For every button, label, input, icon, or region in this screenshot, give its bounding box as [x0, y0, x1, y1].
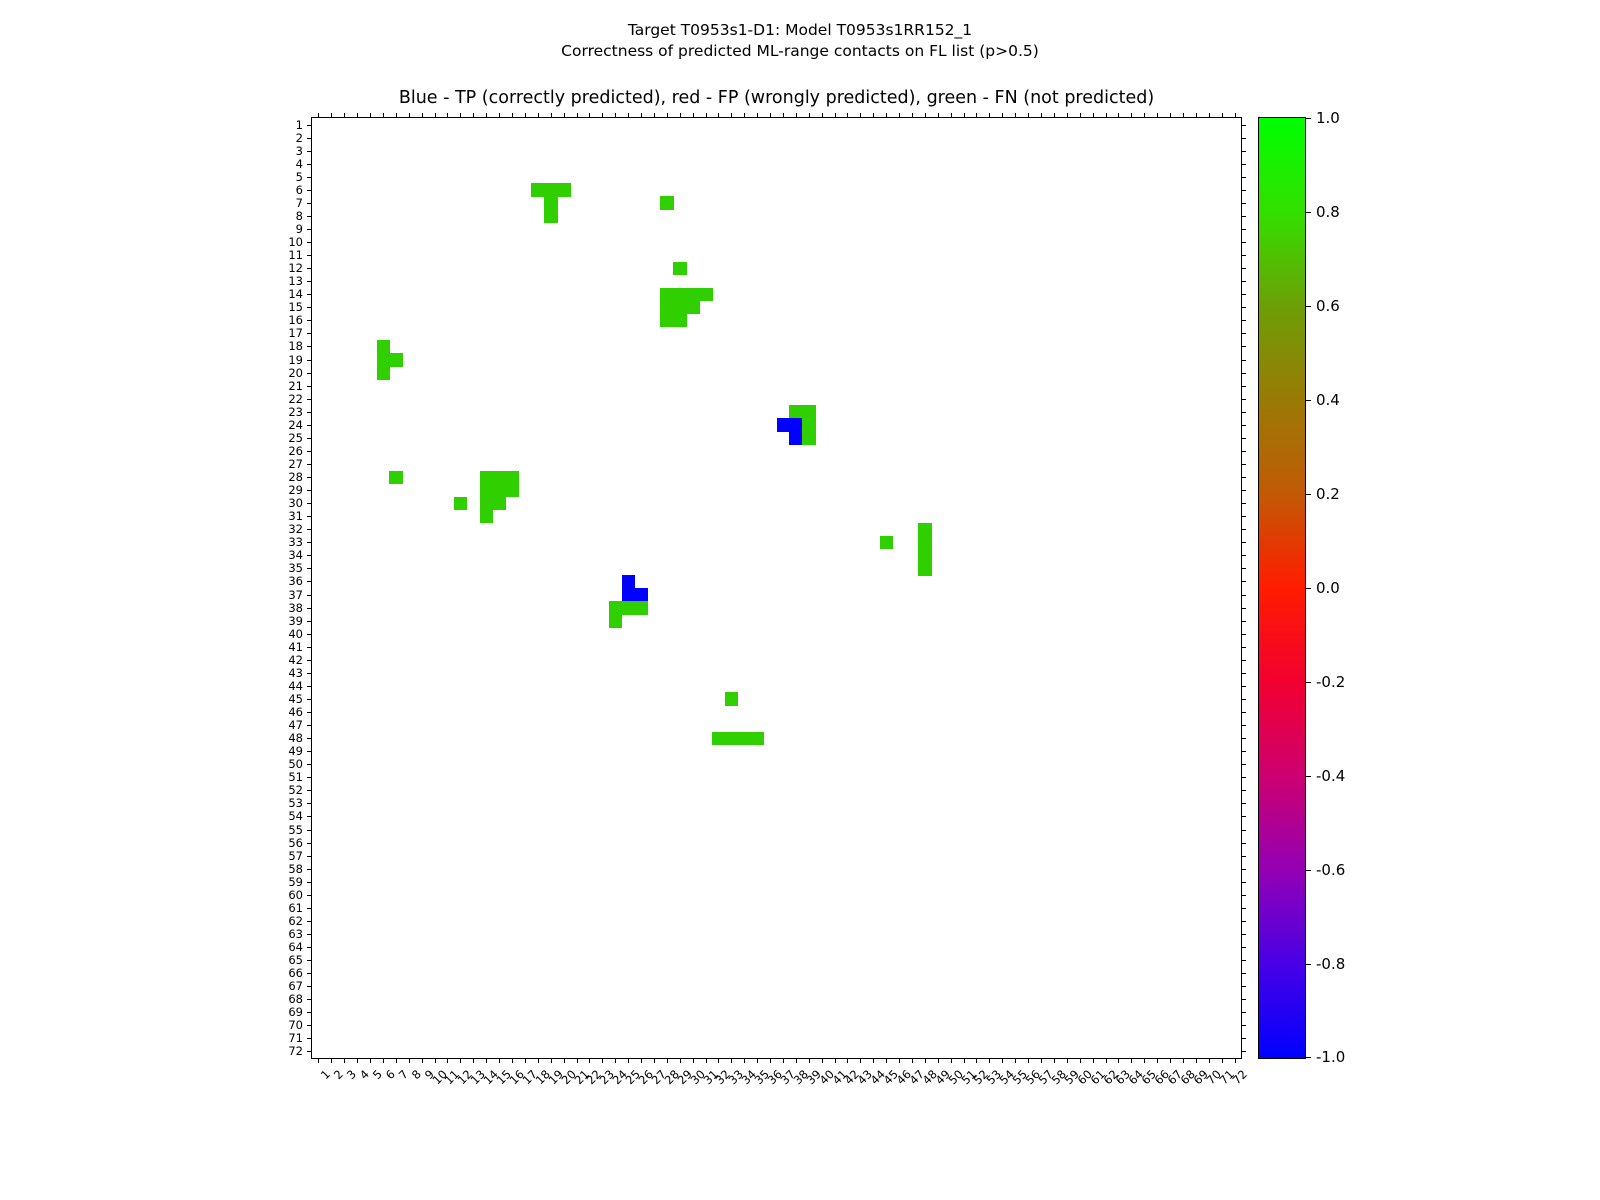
x-tick-mark [1067, 1058, 1068, 1063]
contact-cell [557, 183, 571, 197]
y-tick-mark-right [1241, 895, 1246, 896]
y-tick-mark [307, 216, 312, 217]
x-axis-tick-label: 3 [344, 1067, 359, 1082]
y-axis-tick-label: 11 [288, 248, 303, 262]
y-axis-tick-label: 47 [288, 718, 303, 732]
y-tick-mark-right [1241, 281, 1246, 282]
y-tick-mark-right [1241, 438, 1246, 439]
y-tick-mark [307, 843, 312, 844]
y-tick-mark-right [1241, 764, 1246, 765]
x-tick-mark-top [899, 113, 900, 118]
x-tick-mark-top [641, 113, 642, 118]
x-axis-tick-label: 1 [318, 1067, 333, 1082]
y-tick-mark [307, 399, 312, 400]
y-tick-mark-right [1241, 608, 1246, 609]
y-tick-mark-right [1241, 999, 1246, 1000]
y-tick-mark [307, 634, 312, 635]
y-tick-mark-right [1241, 555, 1246, 556]
x-tick-mark-top [1106, 113, 1107, 118]
y-tick-mark [307, 333, 312, 334]
contact-cell [544, 196, 558, 210]
x-tick-mark [370, 1058, 371, 1063]
y-tick-mark-right [1241, 660, 1246, 661]
y-axis-tick-label: 25 [288, 431, 303, 445]
y-axis-tick-label: 21 [288, 379, 303, 393]
y-tick-mark [307, 882, 312, 883]
x-tick-mark [989, 1058, 990, 1063]
contact-cell [635, 588, 649, 602]
contact-cell [802, 431, 816, 445]
x-tick-mark [499, 1058, 500, 1063]
x-tick-mark [551, 1058, 552, 1063]
x-tick-mark [899, 1058, 900, 1063]
y-axis-tick-label: 3 [296, 144, 303, 158]
y-axis-tick-label: 40 [288, 627, 303, 641]
y-axis-tick-label: 28 [288, 470, 303, 484]
x-tick-mark-top [1067, 113, 1068, 118]
y-tick-mark [307, 294, 312, 295]
x-tick-mark-top [822, 113, 823, 118]
x-tick-mark-top [1131, 113, 1132, 118]
y-axis-tick-label: 8 [296, 209, 303, 223]
x-tick-mark [1002, 1058, 1003, 1063]
x-tick-mark [641, 1058, 642, 1063]
y-tick-mark [307, 425, 312, 426]
y-tick-mark-right [1241, 1051, 1246, 1052]
contact-cell [480, 471, 494, 485]
y-tick-mark [307, 464, 312, 465]
contact-cell [880, 536, 894, 550]
y-tick-mark [307, 320, 312, 321]
y-axis-tick-label: 66 [288, 966, 303, 980]
y-axis-tick-label: 32 [288, 522, 303, 536]
x-tick-mark [654, 1058, 655, 1063]
x-tick-mark [1196, 1058, 1197, 1063]
x-tick-mark [951, 1058, 952, 1063]
y-axis-tick-label: 50 [288, 757, 303, 771]
y-tick-mark-right [1241, 960, 1246, 961]
colorbar-tick-mark [1305, 870, 1311, 871]
x-tick-mark-top [525, 113, 526, 118]
y-tick-mark [307, 164, 312, 165]
y-tick-mark [307, 451, 312, 452]
y-axis-tick-label: 26 [288, 444, 303, 458]
y-axis-tick-label: 24 [288, 418, 303, 432]
y-tick-mark [307, 934, 312, 935]
x-tick-mark [1235, 1058, 1236, 1063]
x-tick-mark [383, 1058, 384, 1063]
y-axis-tick-label: 52 [288, 783, 303, 797]
y-axis-tick-label: 54 [288, 809, 303, 823]
y-axis-tick-label: 39 [288, 614, 303, 628]
contact-cell [389, 353, 403, 367]
y-tick-mark [307, 660, 312, 661]
y-tick-mark [307, 581, 312, 582]
y-tick-mark [307, 621, 312, 622]
y-tick-mark-right [1241, 307, 1246, 308]
x-axis-tick-label: 72 [1229, 1067, 1249, 1087]
y-axis-tick-label: 51 [288, 770, 303, 784]
x-tick-mark-top [886, 113, 887, 118]
x-tick-mark-top [938, 113, 939, 118]
contact-cell [699, 288, 713, 302]
y-tick-mark-right [1241, 934, 1246, 935]
y-tick-mark-right [1241, 882, 1246, 883]
contact-cell [673, 288, 687, 302]
y-axis-tick-label: 19 [288, 353, 303, 367]
x-tick-mark-top [409, 113, 410, 118]
y-tick-mark [307, 869, 312, 870]
y-tick-mark-right [1241, 921, 1246, 922]
x-tick-mark [1080, 1058, 1081, 1063]
contact-cell [377, 340, 391, 354]
y-axis-tick-label: 31 [288, 509, 303, 523]
y-axis-tick-label: 68 [288, 992, 303, 1006]
y-tick-mark-right [1241, 216, 1246, 217]
suptitle-line-2: Correctness of predicted ML-range contac… [0, 41, 1600, 62]
y-axis-tick-label: 53 [288, 796, 303, 810]
x-tick-mark-top [512, 113, 513, 118]
contact-cell [622, 575, 636, 589]
x-tick-mark-top [1002, 113, 1003, 118]
x-tick-mark-top [667, 113, 668, 118]
contact-map-plot[interactable]: 1234567891011121314151617181920212223242… [311, 117, 1242, 1059]
contact-cell [712, 732, 726, 746]
y-tick-mark [307, 908, 312, 909]
y-tick-mark-right [1241, 581, 1246, 582]
x-tick-mark [938, 1058, 939, 1063]
x-tick-mark-top [1144, 113, 1145, 118]
contact-cell [918, 523, 932, 537]
contact-cell [480, 484, 494, 498]
y-axis-tick-label: 35 [288, 561, 303, 575]
y-axis-tick-label: 20 [288, 366, 303, 380]
colorbar-tick-label: 0.0 [1316, 579, 1340, 597]
y-axis-tick-label: 44 [288, 679, 303, 693]
contact-cell [673, 262, 687, 276]
colorbar-tick-label: 0.4 [1316, 391, 1340, 409]
colorbar-tick-mark [1305, 776, 1311, 777]
y-axis-tick-label: 5 [296, 170, 303, 184]
x-tick-mark-top [989, 113, 990, 118]
y-axis-tick-label: 23 [288, 405, 303, 419]
contact-cell [789, 431, 803, 445]
suptitle-line-1: Target T0953s1-D1: Model T0953s1RR152_1 [0, 20, 1600, 41]
y-axis-tick-label: 37 [288, 588, 303, 602]
y-axis-tick-label: 64 [288, 940, 303, 954]
x-tick-mark [357, 1058, 358, 1063]
y-tick-mark [307, 790, 312, 791]
x-tick-mark-top [964, 113, 965, 118]
y-tick-mark-right [1241, 725, 1246, 726]
x-tick-mark-top [860, 113, 861, 118]
y-tick-mark [307, 712, 312, 713]
y-tick-mark [307, 647, 312, 648]
x-tick-mark-top [1157, 113, 1158, 118]
y-tick-mark-right [1241, 177, 1246, 178]
y-tick-mark [307, 307, 312, 308]
colorbar-tick-mark [1305, 964, 1311, 965]
y-tick-mark [307, 529, 312, 530]
y-tick-mark [307, 1012, 312, 1013]
x-tick-mark-top [783, 113, 784, 118]
colorbar-gradient [1259, 118, 1305, 1058]
x-tick-mark [577, 1058, 578, 1063]
contact-cell [660, 301, 674, 315]
x-tick-mark-top [770, 113, 771, 118]
contact-cell [493, 484, 507, 498]
x-tick-mark [1028, 1058, 1029, 1063]
y-axis-tick-label: 30 [288, 496, 303, 510]
colorbar-tick-label: -0.2 [1316, 673, 1345, 691]
y-tick-mark [307, 177, 312, 178]
x-tick-mark-top [435, 113, 436, 118]
contact-cell [673, 301, 687, 315]
y-tick-mark-right [1241, 464, 1246, 465]
x-tick-mark [783, 1058, 784, 1063]
x-tick-mark-top [564, 113, 565, 118]
x-tick-mark [860, 1058, 861, 1063]
y-tick-mark-right [1241, 869, 1246, 870]
y-tick-mark [307, 803, 312, 804]
y-tick-mark-right [1241, 294, 1246, 295]
y-axis-tick-label: 17 [288, 326, 303, 340]
contact-cell [544, 209, 558, 223]
x-tick-mark-top [1209, 113, 1210, 118]
y-tick-mark-right [1241, 568, 1246, 569]
contact-cell [660, 196, 674, 210]
y-axis-tick-label: 2 [296, 131, 303, 145]
y-tick-mark [307, 542, 312, 543]
x-tick-mark-top [912, 113, 913, 118]
y-tick-mark [307, 438, 312, 439]
contact-map-cells [312, 118, 1241, 1058]
y-tick-mark-right [1241, 229, 1246, 230]
y-axis-tick-label: 41 [288, 640, 303, 654]
y-tick-mark [307, 1038, 312, 1039]
x-tick-mark [1015, 1058, 1016, 1063]
y-tick-mark [307, 138, 312, 139]
y-tick-mark-right [1241, 203, 1246, 204]
y-tick-mark [307, 856, 312, 857]
x-tick-mark [912, 1058, 913, 1063]
y-axis-tick-label: 60 [288, 888, 303, 902]
y-tick-mark [307, 555, 312, 556]
contact-cell [802, 418, 816, 432]
y-tick-mark-right [1241, 125, 1246, 126]
x-tick-mark [796, 1058, 797, 1063]
contact-cell [377, 353, 391, 367]
x-tick-mark-top [925, 113, 926, 118]
y-axis-tick-label: 38 [288, 601, 303, 615]
x-axis-tick-label: 6 [383, 1067, 398, 1082]
colorbar-tick-label: 0.2 [1316, 485, 1340, 503]
x-tick-mark-top [486, 113, 487, 118]
y-axis-tick-label: 6 [296, 183, 303, 197]
x-tick-mark [873, 1058, 874, 1063]
x-tick-mark [706, 1058, 707, 1063]
y-axis-tick-label: 63 [288, 927, 303, 941]
x-tick-mark [1157, 1058, 1158, 1063]
x-tick-mark-top [835, 113, 836, 118]
x-tick-mark-top [796, 113, 797, 118]
x-tick-mark-top [383, 113, 384, 118]
y-axis-tick-label: 49 [288, 744, 303, 758]
y-tick-mark-right [1241, 386, 1246, 387]
y-tick-mark-right [1241, 529, 1246, 530]
x-tick-mark-top [318, 113, 319, 118]
y-tick-mark [307, 595, 312, 596]
colorbar-tick-mark [1305, 588, 1311, 589]
x-axis-tick-label: 8 [409, 1067, 424, 1082]
x-tick-mark [1054, 1058, 1055, 1063]
y-axis-tick-label: 18 [288, 339, 303, 353]
y-tick-mark-right [1241, 686, 1246, 687]
y-tick-mark-right [1241, 908, 1246, 909]
x-tick-mark-top [847, 113, 848, 118]
y-tick-mark-right [1241, 973, 1246, 974]
contact-cell [493, 497, 507, 511]
contact-cell [725, 692, 739, 706]
y-tick-mark [307, 242, 312, 243]
y-tick-mark-right [1241, 673, 1246, 674]
x-tick-mark [589, 1058, 590, 1063]
x-tick-mark [628, 1058, 629, 1063]
colorbar-tick-mark [1305, 400, 1311, 401]
y-tick-mark [307, 1051, 312, 1052]
y-tick-mark-right [1241, 830, 1246, 831]
y-axis-tick-label: 9 [296, 222, 303, 236]
y-axis-tick-label: 1 [296, 118, 303, 132]
x-tick-mark [731, 1058, 732, 1063]
y-tick-mark-right [1241, 1012, 1246, 1013]
y-tick-mark [307, 921, 312, 922]
x-tick-mark [1106, 1058, 1107, 1063]
x-tick-mark-top [873, 113, 874, 118]
x-tick-mark-top [654, 113, 655, 118]
x-tick-mark-top [1054, 113, 1055, 118]
x-tick-mark [1183, 1058, 1184, 1063]
x-tick-mark-top [1093, 113, 1094, 118]
x-tick-mark-top [1118, 113, 1119, 118]
x-tick-mark-top [757, 113, 758, 118]
x-axis-tick-label: 7 [396, 1067, 411, 1082]
y-axis-tick-label: 69 [288, 1005, 303, 1019]
y-tick-mark-right [1241, 333, 1246, 334]
x-tick-mark [964, 1058, 965, 1063]
x-tick-mark [1144, 1058, 1145, 1063]
x-tick-mark [680, 1058, 681, 1063]
x-tick-mark [486, 1058, 487, 1063]
contact-cell [660, 314, 674, 328]
x-tick-mark-top [538, 113, 539, 118]
x-tick-mark-top [680, 113, 681, 118]
x-tick-mark-top [731, 113, 732, 118]
y-tick-mark-right [1241, 399, 1246, 400]
x-tick-mark [847, 1058, 848, 1063]
contact-cell [789, 405, 803, 419]
x-tick-mark [886, 1058, 887, 1063]
x-tick-mark [1093, 1058, 1094, 1063]
x-tick-mark-top [1041, 113, 1042, 118]
x-tick-mark-top [396, 113, 397, 118]
x-tick-mark-top [551, 113, 552, 118]
y-tick-mark-right [1241, 621, 1246, 622]
y-axis-tick-label: 42 [288, 653, 303, 667]
colorbar[interactable]: 1.00.80.60.40.20.0-0.2-0.4-0.6-0.8-1.0 [1258, 117, 1306, 1059]
contact-cell [918, 549, 932, 563]
y-tick-mark [307, 229, 312, 230]
y-tick-mark-right [1241, 138, 1246, 139]
y-axis-tick-label: 55 [288, 823, 303, 837]
y-tick-mark-right [1241, 190, 1246, 191]
x-tick-mark-top [473, 113, 474, 118]
x-tick-mark [835, 1058, 836, 1063]
x-tick-mark [615, 1058, 616, 1063]
contact-cell [454, 497, 468, 511]
colorbar-tick-label: -0.4 [1316, 767, 1345, 785]
x-tick-mark [564, 1058, 565, 1063]
x-tick-mark [925, 1058, 926, 1063]
y-axis-tick-label: 29 [288, 483, 303, 497]
y-tick-mark-right [1241, 712, 1246, 713]
x-tick-mark [460, 1058, 461, 1063]
colorbar-tick-mark [1305, 1057, 1311, 1058]
y-tick-mark-right [1241, 647, 1246, 648]
y-tick-mark-right [1241, 843, 1246, 844]
y-tick-mark [307, 895, 312, 896]
contact-cell [725, 732, 739, 746]
x-tick-mark-top [602, 113, 603, 118]
y-axis-tick-label: 45 [288, 692, 303, 706]
y-tick-mark [307, 608, 312, 609]
y-tick-mark-right [1241, 803, 1246, 804]
y-axis-tick-label: 4 [296, 157, 303, 171]
y-tick-mark-right [1241, 699, 1246, 700]
y-tick-mark [307, 360, 312, 361]
y-axis-tick-label: 70 [288, 1018, 303, 1032]
contact-cell [389, 471, 403, 485]
y-axis-tick-label: 22 [288, 392, 303, 406]
y-tick-mark [307, 386, 312, 387]
x-tick-mark-top [1015, 113, 1016, 118]
x-tick-mark-top [976, 113, 977, 118]
y-axis-tick-label: 7 [296, 196, 303, 210]
y-tick-mark-right [1241, 816, 1246, 817]
x-tick-mark-top [447, 113, 448, 118]
x-tick-mark [396, 1058, 397, 1063]
x-tick-mark-top [1183, 113, 1184, 118]
y-tick-mark [307, 973, 312, 974]
contact-cell [751, 732, 765, 746]
y-axis-tick-label: 34 [288, 548, 303, 562]
y-tick-mark [307, 516, 312, 517]
y-axis-tick-label: 59 [288, 875, 303, 889]
y-axis-tick-label: 72 [288, 1044, 303, 1058]
x-tick-mark [744, 1058, 745, 1063]
contact-cell [480, 497, 494, 511]
x-tick-mark [409, 1058, 410, 1063]
y-axis-tick-label: 16 [288, 313, 303, 327]
y-axis-tick-label: 33 [288, 535, 303, 549]
y-axis-tick-label: 57 [288, 849, 303, 863]
contact-cell [802, 405, 816, 419]
y-tick-mark-right [1241, 490, 1246, 491]
x-tick-mark-top [499, 113, 500, 118]
contact-cell [531, 183, 545, 197]
y-tick-mark-right [1241, 856, 1246, 857]
x-axis-tick-label: 4 [357, 1067, 372, 1082]
